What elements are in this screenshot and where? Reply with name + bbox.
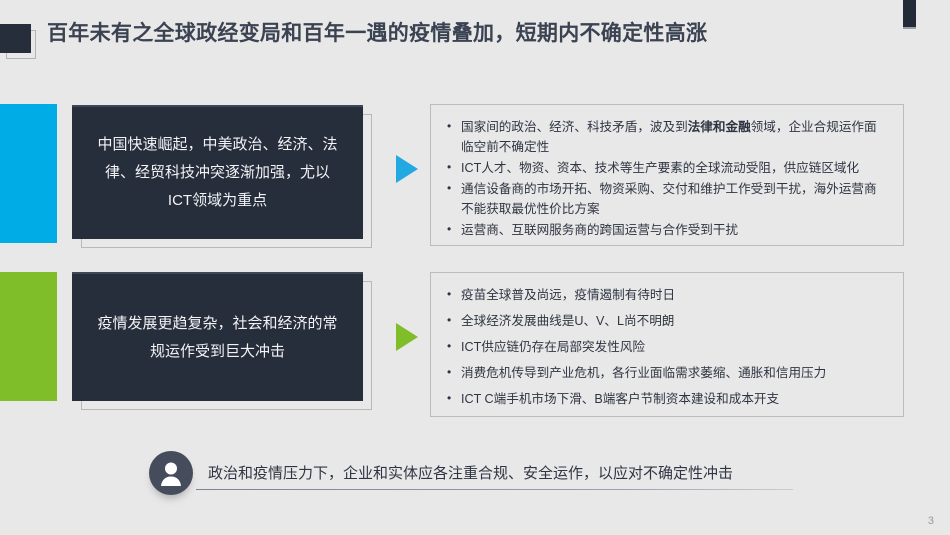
footer-underline (196, 489, 793, 490)
accent-bar-row-2 (0, 272, 57, 401)
bullet-text-pre: ICT供应链仍存在局部突发性风险 (461, 340, 645, 354)
list-item: 疫苗全球普及尚远，疫情遏制有待时日 (445, 285, 887, 305)
bullet-text-pre: 通信设备商的市场开拓、物资采购、交付和维护工作受到干扰，海外运营商不能获取最优性… (461, 182, 877, 216)
footer-message: 政治和疫情压力下，企业和实体应各注重合规、安全运作，以应对不确定性冲击 (208, 462, 733, 483)
summary-card-row-2[interactable]: 疫情发展更趋复杂，社会和经济的常规运作受到巨大冲击 (72, 272, 363, 401)
bullet-text-pre: 消费危机传导到产业危机，各行业面临需求萎缩、通胀和信用压力 (461, 366, 826, 380)
bullet-text-pre: ICT C端手机市场下滑、B端客户节制资本建设和成本开支 (461, 392, 779, 406)
slide-canvas: 百年未有之全球政经变局和百年一遇的疫情叠加，短期内不确定性高涨 中国快速崛起，中… (0, 0, 950, 535)
list-item: 全球经济发展曲线是U、V、L尚不明朗 (445, 311, 887, 331)
list-item: ICT C端手机市场下滑、B端客户节制资本建设和成本开支 (445, 389, 887, 409)
list-item: ICT供应链仍存在局部突发性风险 (445, 337, 887, 357)
detail-panel-row-2: 疫苗全球普及尚远，疫情遏制有待时日 全球经济发展曲线是U、V、L尚不明朗 ICT… (430, 272, 904, 417)
list-item: 国家间的政治、经济、科技矛盾，波及到法律和金融领域，企业合规运作面临空前不确定性 (445, 117, 887, 157)
list-item: 通信设备商的市场开拓、物资采购、交付和维护工作受到干扰，海外运营商不能获取最优性… (445, 179, 887, 219)
summary-text-row-1: 中国快速崛起，中美政治、经济、法律、经贸科技冲突逐渐加强，尤以ICT领域为重点 (94, 131, 341, 215)
header-decoration-square (0, 24, 31, 53)
bullet-text-pre: 国家间的政治、经济、科技矛盾，波及到 (461, 120, 688, 134)
person-icon (149, 451, 193, 495)
page-title: 百年未有之全球政经变局和百年一遇的疫情叠加，短期内不确定性高涨 (47, 17, 877, 47)
summary-card-row-1[interactable]: 中国快速崛起，中美政治、经济、法律、经贸科技冲突逐渐加强，尤以ICT领域为重点 (72, 105, 363, 239)
bullet-list-row-1: 国家间的政治、经济、科技矛盾，波及到法律和金融领域，企业合规运作面临空前不确定性… (445, 117, 887, 240)
bullet-list-row-2: 疫苗全球普及尚远，疫情遏制有待时日 全球经济发展曲线是U、V、L尚不明朗 ICT… (445, 285, 887, 409)
accent-bar-row-1 (0, 104, 57, 243)
bullet-text-pre: ICT人才、物资、资本、技术等生产要素的全球流动受阻，供应链区域化 (461, 161, 859, 175)
corner-accent-bar (903, 0, 916, 29)
bullet-text-pre: 疫苗全球普及尚远，疫情遏制有待时日 (461, 288, 675, 302)
list-item: 消费危机传导到产业危机，各行业面临需求萎缩、通胀和信用压力 (445, 363, 887, 383)
arrow-right-icon-row-2 (396, 323, 418, 351)
page-number: 3 (928, 515, 934, 527)
bullet-text-pre: 运营商、互联网服务商的跨国运营与合作受到干扰 (461, 223, 738, 237)
summary-text-row-2: 疫情发展更趋复杂，社会和经济的常规运作受到巨大冲击 (94, 310, 341, 366)
arrow-right-icon-row-1 (396, 155, 418, 183)
bullet-text-pre: 全球经济发展曲线是U、V、L尚不明朗 (461, 314, 674, 328)
detail-panel-row-1: 国家间的政治、经济、科技矛盾，波及到法律和金融领域，企业合规运作面临空前不确定性… (430, 104, 904, 246)
bullet-text-bold: 法律和金融 (688, 120, 751, 134)
list-item: ICT人才、物资、资本、技术等生产要素的全球流动受阻，供应链区域化 (445, 158, 887, 178)
list-item: 运营商、互联网服务商的跨国运营与合作受到干扰 (445, 220, 887, 240)
